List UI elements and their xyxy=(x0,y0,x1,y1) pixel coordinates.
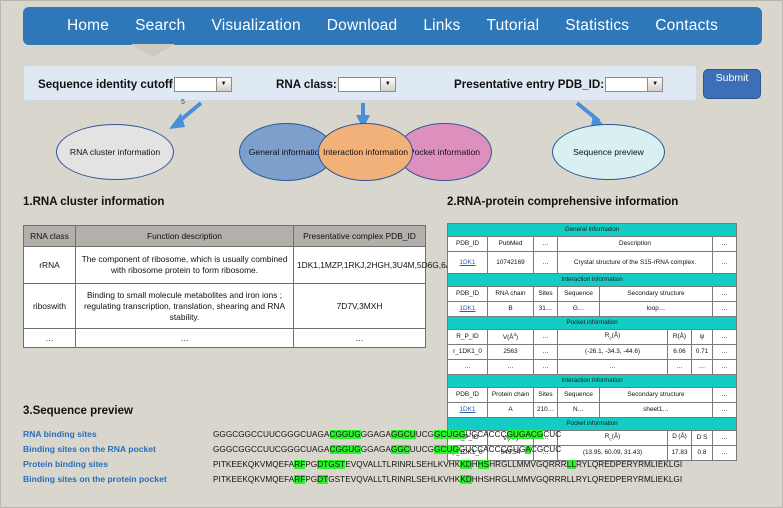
cell-rna-class: … xyxy=(24,329,76,348)
nav-item-statistics[interactable]: Statistics xyxy=(565,17,629,35)
sequence-plain: GGAGA xyxy=(361,445,391,454)
bubble-rna-cluster-information[interactable]: RNA cluster information xyxy=(56,124,174,180)
rna-class-field: RNA class: ▼ xyxy=(276,66,396,102)
band-interaction-information-protein: Interaction information xyxy=(448,375,737,388)
col-r: R(Å) xyxy=(668,330,692,345)
sequence-highlight: GGCU xyxy=(391,430,416,439)
sequence-highlight: DTGST xyxy=(317,460,345,469)
table-row: rRNA The component of ribosome, which is… xyxy=(24,247,426,284)
sequence-plain: GSTEVQVALLTLRINRLSEHLKVHK xyxy=(328,475,460,484)
sequence-label: Binding sites on the protein pocket xyxy=(23,474,213,484)
col-presentative-pdb-id: Presentative complex PDB_ID xyxy=(294,226,426,247)
cell-rna-class: rRNA xyxy=(24,247,76,284)
sequence-plain: UUCG xyxy=(410,445,434,454)
col-sites: Sites xyxy=(534,287,558,302)
cell-protein-chain: A xyxy=(488,403,534,418)
sequence-row-rna-pocket-binding-sites: Binding sites on the RNA pocket GGGCGGCC… xyxy=(23,444,768,459)
cell-ellipsis-2: … xyxy=(713,252,737,274)
nav-item-tutorial[interactable]: Tutorial xyxy=(487,17,540,35)
sequence-plain: PG xyxy=(305,475,317,484)
sequence-plain: CUC xyxy=(543,430,561,439)
cell-volume: 2563 xyxy=(488,345,534,360)
col-ellipsis: … xyxy=(713,287,737,302)
sequence-highlight: LL xyxy=(567,460,576,469)
sequence-plain: H xyxy=(472,460,478,469)
cell-r: … xyxy=(668,360,692,375)
table-row: 1DK1 10742169 … Crystal structure of the… xyxy=(448,252,737,274)
cell-description: … xyxy=(76,329,294,348)
main-navigation: Home Search Visualization Download Links… xyxy=(23,7,762,45)
col-psi: ψ xyxy=(692,330,713,345)
cell-psi: 0.71 xyxy=(692,345,713,360)
sequence-value: PITKEEKQKVMQEFARFPGDTGSTEVQVALLTLRINRLSE… xyxy=(213,460,682,469)
band-general-information-row: General information xyxy=(448,224,737,237)
sequence-plain: PG xyxy=(305,460,317,469)
cell-ellipsis: … xyxy=(534,345,558,360)
cell-rc: … xyxy=(558,360,668,375)
sequence-plain: GGGCGGCCUUCGGGCUAGA xyxy=(213,445,330,454)
sequence-row-protein-binding-sites: Protein binding sites PITKEEKQKVMQEFARFP… xyxy=(23,459,768,474)
sequence-preview-list: RNA binding sites GGGCGGCCUUCGGGCUAGACGG… xyxy=(23,429,768,489)
sequence-highlight: GCUG xyxy=(434,445,459,454)
cell-description: Binding to small molecule metabolites an… xyxy=(76,284,294,329)
sequence-label: RNA binding sites xyxy=(23,429,213,439)
rna-class-label: RNA class: xyxy=(276,78,337,91)
sequence-row-protein-pocket-binding-sites: Binding sites on the protein pocket PITK… xyxy=(23,474,768,489)
band-general-information: General information xyxy=(448,224,737,237)
cell-ellipsis: … xyxy=(713,302,737,317)
bubble-interaction-information[interactable]: Interaction information xyxy=(318,123,413,181)
sequence-plain: UCG xyxy=(416,430,434,439)
submit-button[interactable]: Submit xyxy=(703,69,761,99)
bubble-sequence-preview[interactable]: Sequence preview xyxy=(552,124,665,180)
table-row: riboswith Binding to small molecule meta… xyxy=(24,284,426,329)
presentative-pdb-id-value xyxy=(606,78,647,91)
col-sequence: Sequence xyxy=(558,388,600,403)
pdb-id-link[interactable]: 1DK1 xyxy=(460,305,476,312)
table-header-row: PDB_ID PubMed … Description … xyxy=(448,237,737,252)
col-pdb-id: PDB_ID xyxy=(448,388,488,403)
sequence-highlight: KD xyxy=(460,475,471,484)
sequence-highlight: CGGUG xyxy=(330,445,361,454)
sequence-highlight: CGGUG xyxy=(330,430,361,439)
chevron-down-icon: ▼ xyxy=(216,78,231,91)
nav-item-home[interactable]: Home xyxy=(67,17,109,35)
col-ellipsis: … xyxy=(534,330,558,345)
col-secondary-structure: Secondary structure xyxy=(600,388,713,403)
col-pdb-id: PDB_ID xyxy=(448,287,488,302)
section-2-title: 2.RNA-protein comprehensive information xyxy=(447,196,678,208)
cell-ellipsis: … xyxy=(534,360,558,375)
sequence-plain: UCCACCC xyxy=(465,430,506,439)
col-ellipsis: … xyxy=(534,237,558,252)
cell-ellipsis-2: … xyxy=(713,360,737,375)
chevron-down-icon: ▼ xyxy=(380,78,395,91)
cell-rna-class: riboswith xyxy=(24,284,76,329)
cell-pdb-ids: 1DK1,1MZP,1RKJ,2HGH,3U4M,5D6G,6AJK xyxy=(294,247,426,284)
nav-item-search[interactable]: Search xyxy=(135,17,185,35)
table-row: … … … … … … … xyxy=(448,360,737,375)
cell-description: Crystal structure of the S15-rRNA comple… xyxy=(558,252,713,274)
band-pocket-information-rna: Pocket information xyxy=(448,317,737,330)
col-ellipsis-2: … xyxy=(713,237,737,252)
sequence-plain: HRGLLMMVGQRRR xyxy=(489,460,567,469)
col-ellipsis: … xyxy=(713,388,737,403)
rna-cluster-table: RNA class Function description Presentat… xyxy=(23,225,426,348)
sequence-highlight: KD xyxy=(460,460,471,469)
cell-rc: (-26.1, -34.3, -44.6) xyxy=(558,345,668,360)
sequence-identity-cutoff-value xyxy=(175,78,216,91)
table-header-row: RNA class Function description Presentat… xyxy=(24,226,426,247)
cell-pdb-id-link[interactable]: 1DK1 xyxy=(448,403,488,418)
nav-item-links[interactable]: Links xyxy=(423,17,460,35)
sequence-plain: GGGCGGCCUUCGGGCUAGA xyxy=(213,430,330,439)
col-pdb-id: PDB_ID xyxy=(448,237,488,252)
arrow-to-rna-cluster-icon xyxy=(161,101,211,131)
cell-psi: … xyxy=(692,360,713,375)
pdb-id-link[interactable]: 1DK1 xyxy=(460,259,476,266)
sequence-highlight: GGC xyxy=(391,445,410,454)
cell-volume: … xyxy=(488,360,534,375)
rna-class-value xyxy=(339,78,380,91)
cell-r-p-id: … xyxy=(448,360,488,375)
sequence-value: GGGCGGCCUUCGGGCUAGACGGUGGGAGAGGCUUCGGCUG… xyxy=(213,430,561,439)
table-row: 1DK1 A 210… N… sheet1… … xyxy=(448,403,737,418)
band-interaction-information-rna-row: Interaction information xyxy=(448,274,737,287)
sequence-highlight: RF xyxy=(294,475,305,484)
page-root: Home Search Visualization Download Links… xyxy=(0,0,783,508)
cell-rna-chain: B xyxy=(488,302,534,317)
sequence-label: Binding sites on the RNA pocket xyxy=(23,444,213,454)
sequence-identity-cutoff-select[interactable]: ▼ xyxy=(174,77,232,92)
col-sequence: Sequence xyxy=(558,287,600,302)
band-interaction-information-protein-row: Interaction information xyxy=(448,375,737,388)
search-form: Sequence identity cutoff ▼ RNA class: ▼ … xyxy=(23,65,697,101)
col-rc: Rc(Å) xyxy=(558,330,668,345)
sequence-highlight: RF xyxy=(294,460,305,469)
sequence-plain: EVQVALLTLRINRLSEHLKVHK xyxy=(345,460,460,469)
cell-pdb-ids: 7D7V,3MXH xyxy=(294,284,426,329)
sequence-plain: PITKEEKQKVMQEFA xyxy=(213,475,294,484)
presentative-pdb-id-field: Presentative entry PDB_ID: ▼ xyxy=(454,66,663,102)
cell-pubmed: 10742169 xyxy=(488,252,534,274)
band-pocket-information-rna-row: Pocket information xyxy=(448,317,737,330)
rna-class-select[interactable]: ▼ xyxy=(338,77,396,92)
cell-r-p-id: r_1DK1_0 xyxy=(448,345,488,360)
col-sites: Sites xyxy=(534,388,558,403)
col-rna-chain: RNA chain xyxy=(488,287,534,302)
cell-sequence: G… xyxy=(558,302,600,317)
sequence-identity-cutoff-field: Sequence identity cutoff ▼ xyxy=(38,66,232,102)
nav-item-download[interactable]: Download xyxy=(327,17,398,35)
cell-sites: 210… xyxy=(534,403,558,418)
sequence-highlight: DT xyxy=(317,475,328,484)
cell-sites: 31… xyxy=(534,302,558,317)
cell-pdb-id-link[interactable]: 1DK1 xyxy=(448,302,488,317)
table-header-row: PDB_ID RNA chain Sites Sequence Secondar… xyxy=(448,287,737,302)
nav-item-contacts[interactable]: Contacts xyxy=(655,17,718,35)
sequence-label: Protein binding sites xyxy=(23,459,213,469)
col-r-p-id: R_P_ID xyxy=(448,330,488,345)
cell-secondary-structure: sheet1… xyxy=(600,403,713,418)
col-secondary-structure: Secondary structure xyxy=(600,287,713,302)
cell-r: 6.06 xyxy=(668,345,692,360)
col-volume: V(Å3) xyxy=(488,330,534,345)
col-rna-class: RNA class xyxy=(24,226,76,247)
presentative-pdb-id-label: Presentative entry PDB_ID: xyxy=(454,78,604,91)
cell-ellipsis: … xyxy=(713,403,737,418)
table-row: 1DK1 B 31… G… loop… … xyxy=(448,302,737,317)
section-1-title: 1.RNA cluster information xyxy=(23,196,164,208)
active-tab-caret-icon xyxy=(131,44,175,57)
sequence-plain: RYLQREDPERYRMLIEKLGI xyxy=(576,460,682,469)
table-header-row: PDB_ID Protein chain Sites Sequence Seco… xyxy=(448,388,737,403)
sequence-value: PITKEEKQKVMQEFARFPGDTGSTEVQVALLTLRINRLSE… xyxy=(213,475,682,484)
col-protein-chain: Protein chain xyxy=(488,388,534,403)
col-description: Description xyxy=(558,237,713,252)
sequence-plain: PITKEEKQKVMQEFA xyxy=(213,460,294,469)
col-pubmed: PubMed xyxy=(488,237,534,252)
sequence-plain: CGCUC xyxy=(531,445,561,454)
band-interaction-information-rna: Interaction information xyxy=(448,274,737,287)
sequence-plain: GUCCACCCGUG xyxy=(459,445,526,454)
pdb-id-link[interactable]: 1DK1 xyxy=(460,406,476,413)
sequence-value: GGGCGGCCUUCGGGCUAGACGGUGGGAGAGGCUUCGGCUG… xyxy=(213,445,561,454)
sequence-plain: HHSHRGLLMMVGQRRRLLRYLQREDPERYRMLIEKLGI xyxy=(472,475,682,484)
sequence-highlight: HS xyxy=(478,460,489,469)
sequence-identity-cutoff-label: Sequence identity cutoff xyxy=(38,78,173,91)
chevron-down-icon: ▼ xyxy=(647,78,662,91)
cell-sequence: N… xyxy=(558,403,600,418)
cell-ellipsis-2: … xyxy=(713,345,737,360)
nav-item-visualization[interactable]: Visualization xyxy=(211,17,300,35)
sequence-highlight: GUGACG xyxy=(507,430,544,439)
cell-pdb-id-link[interactable]: 1DK1 xyxy=(448,252,488,274)
table-header-row: R_P_ID V(Å3) … Rc(Å) R(Å) ψ … xyxy=(448,330,737,345)
section-3-title: 3.Sequence preview xyxy=(23,405,133,417)
cell-ellipsis: … xyxy=(534,252,558,274)
table-row: … … … xyxy=(24,329,426,348)
cell-description: The component of ribosome, which is usua… xyxy=(76,247,294,284)
rna-protein-comprehensive-table: General information PDB_ID PubMed … Desc… xyxy=(447,223,737,461)
cell-pdb-ids: … xyxy=(294,329,426,348)
sequence-plain: GGAGA xyxy=(361,430,391,439)
presentative-pdb-id-select[interactable]: ▼ xyxy=(605,77,663,92)
sequence-row-rna-binding-sites: RNA binding sites GGGCGGCCUUCGGGCUAGACGG… xyxy=(23,429,768,444)
table-row: r_1DK1_0 2563 … (-26.1, -34.3, -44.6) 6.… xyxy=(448,345,737,360)
cell-secondary-structure: loop… xyxy=(600,302,713,317)
col-function-description: Function description xyxy=(76,226,294,247)
sequence-highlight: GCUGG xyxy=(434,430,465,439)
col-ellipsis-2: … xyxy=(713,330,737,345)
